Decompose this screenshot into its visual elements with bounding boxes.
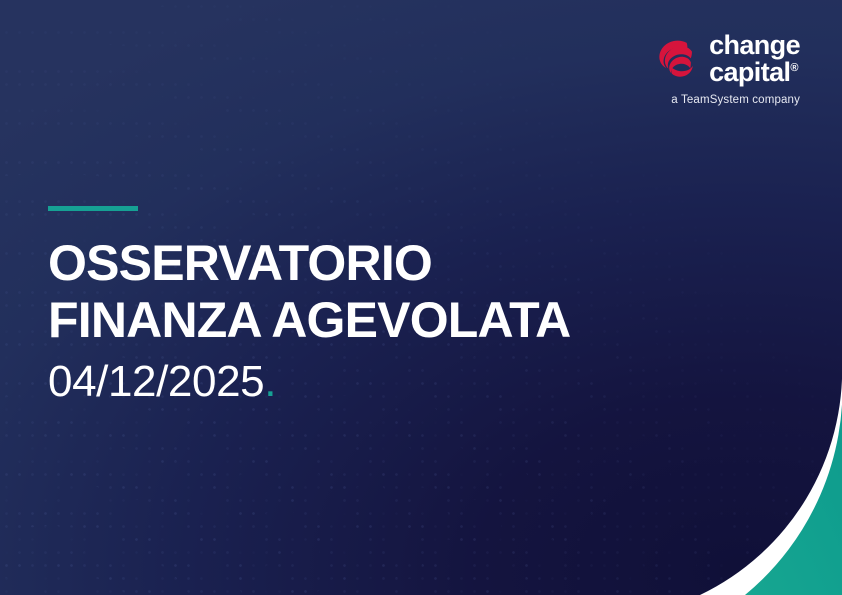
logo-tagline: a TeamSystem company bbox=[671, 94, 800, 106]
teal-accent-rule bbox=[48, 206, 138, 211]
logo-word-capital: capital® bbox=[709, 59, 800, 86]
logo-word-capital-text: capital bbox=[709, 57, 790, 87]
event-date: 04/12/2025. bbox=[48, 357, 708, 406]
logo-mark-and-wordmark: change capital® bbox=[654, 32, 800, 85]
registered-trademark-icon: ® bbox=[790, 62, 798, 74]
title-slide: change capital® a TeamSystem company OSS… bbox=[0, 0, 842, 595]
change-capital-logo: change capital® a TeamSystem company bbox=[654, 32, 800, 106]
change-capital-swirl-icon bbox=[654, 36, 700, 82]
event-date-text: 04/12/2025 bbox=[48, 357, 264, 406]
teal-period-accent: . bbox=[264, 357, 276, 406]
change-capital-wordmark: change capital® bbox=[709, 32, 800, 85]
headline-line-1: OSSERVATORIO bbox=[48, 235, 708, 292]
page-title: OSSERVATORIO FINANZA AGEVOLATA bbox=[48, 235, 708, 349]
logo-word-change: change bbox=[709, 32, 800, 59]
title-block: OSSERVATORIO FINANZA AGEVOLATA 04/12/202… bbox=[48, 206, 708, 406]
headline-line-2: FINANZA AGEVOLATA bbox=[48, 292, 708, 349]
